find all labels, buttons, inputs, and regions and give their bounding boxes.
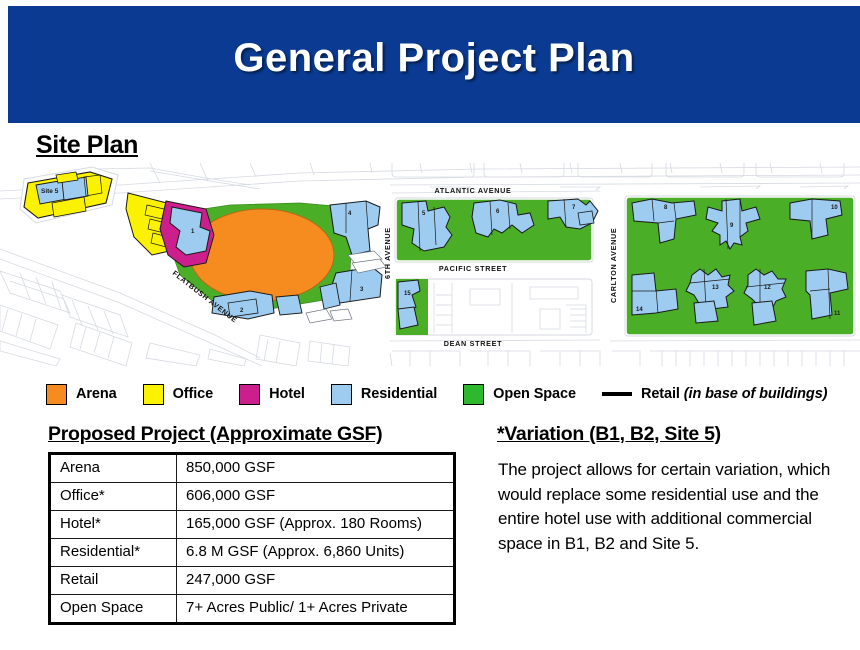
legend-label-open-space: Open Space <box>493 386 576 402</box>
page-title: General Project Plan <box>8 36 860 81</box>
table-cell-value: 850,000 GSF <box>177 454 455 483</box>
table-cell-label: Residential* <box>50 539 177 567</box>
table-row: Open Space 7+ Acres Public/ 1+ Acres Pri… <box>50 595 455 624</box>
table-row: Arena 850,000 GSF <box>50 454 455 483</box>
site5-label: Site 5 <box>41 188 59 195</box>
building-number-10: 10 <box>831 205 838 211</box>
table-cell-label: Arena <box>50 454 177 483</box>
building-number-15: 15 <box>404 291 411 297</box>
legend-item-open-space: Open Space <box>463 384 576 405</box>
building-number-13: 13 <box>712 285 719 291</box>
table-row: Retail 247,000 GSF <box>50 567 455 595</box>
legend-label-retail-text: Retail <box>641 386 684 402</box>
map-legend: Arena Office Hotel Residential Open Spac… <box>0 380 860 408</box>
table-cell-value: 7+ Acres Public/ 1+ Acres Private <box>177 595 455 624</box>
table-cell-label: Open Space <box>50 595 177 624</box>
street-label-atlantic-avenue: ATLANTIC AVENUE <box>434 186 511 195</box>
legend-label-hotel: Hotel <box>269 386 305 402</box>
site-plan-heading: Site Plan <box>36 131 138 160</box>
title-banner: General Project Plan <box>8 6 860 123</box>
legend-label-retail-note: (in base of buildings) <box>684 386 828 402</box>
legend-swatch-open-space-icon <box>463 384 484 405</box>
table-cell-value: 247,000 GSF <box>177 567 455 595</box>
building-number-11: 11 <box>834 311 841 317</box>
legend-swatch-residential-icon <box>331 384 352 405</box>
table-cell-value: 165,000 GSF (Approx. 180 Rooms) <box>177 511 455 539</box>
variation-heading: *Variation (B1, B2, Site 5) <box>497 423 721 446</box>
street-label-dean-street: DEAN STREET <box>444 339 502 348</box>
arena-block: 1 4 3 2 <box>126 193 386 323</box>
legend-item-hotel: Hotel <box>239 384 305 405</box>
table-row: Residential* 6.8 M GSF (Approx. 6,860 Un… <box>50 539 455 567</box>
table-cell-label: Hotel* <box>50 511 177 539</box>
legend-swatch-retail-line-icon <box>602 392 632 396</box>
street-label-pacific-street: PACIFIC STREET <box>439 264 507 273</box>
legend-label-retail: Retail (in base of buildings) <box>641 386 827 402</box>
building-number-12: 12 <box>764 285 771 291</box>
table-cell-label: Retail <box>50 567 177 595</box>
building-number-14: 14 <box>636 307 643 313</box>
legend-item-arena: Arena <box>46 384 117 405</box>
proposed-project-heading: Proposed Project (Approximate GSF) <box>48 423 382 446</box>
dean-block-south: 15 <box>396 279 592 335</box>
carlton-block: 8 9 10 14 13 12 11 <box>625 196 855 336</box>
legend-swatch-office-icon <box>143 384 164 405</box>
table-row: Hotel* 165,000 GSF (Approx. 180 Rooms) <box>50 511 455 539</box>
legend-item-retail: Retail (in base of buildings) <box>602 386 827 402</box>
legend-swatch-arena-icon <box>46 384 67 405</box>
legend-label-residential: Residential <box>361 386 437 402</box>
street-label-carlton-avenue: CARLTON AVENUE <box>609 228 618 303</box>
site5-parcel: Site 5 <box>20 167 118 223</box>
legend-label-office: Office <box>173 386 214 402</box>
table-row: Office* 606,000 GSF <box>50 483 455 511</box>
table-cell-value: 6.8 M GSF (Approx. 6,860 Units) <box>177 539 455 567</box>
site-plan-svg: Site 5 1 4 3 2 <box>0 163 860 366</box>
legend-swatch-hotel-icon <box>239 384 260 405</box>
variation-body: The project allows for certain variation… <box>498 458 850 556</box>
legend-label-arena: Arena <box>76 386 117 402</box>
table-cell-label: Office* <box>50 483 177 511</box>
legend-item-residential: Residential <box>331 384 437 405</box>
proposed-project-table: Arena 850,000 GSF Office* 606,000 GSF Ho… <box>48 452 456 625</box>
pacific-block-north: 5 6 7 <box>395 198 598 262</box>
table-cell-value: 606,000 GSF <box>177 483 455 511</box>
legend-item-office: Office <box>143 384 214 405</box>
street-label-6th-avenue: 6TH AVENUE <box>383 227 392 279</box>
site-plan-map: Site 5 1 4 3 2 <box>0 163 860 366</box>
